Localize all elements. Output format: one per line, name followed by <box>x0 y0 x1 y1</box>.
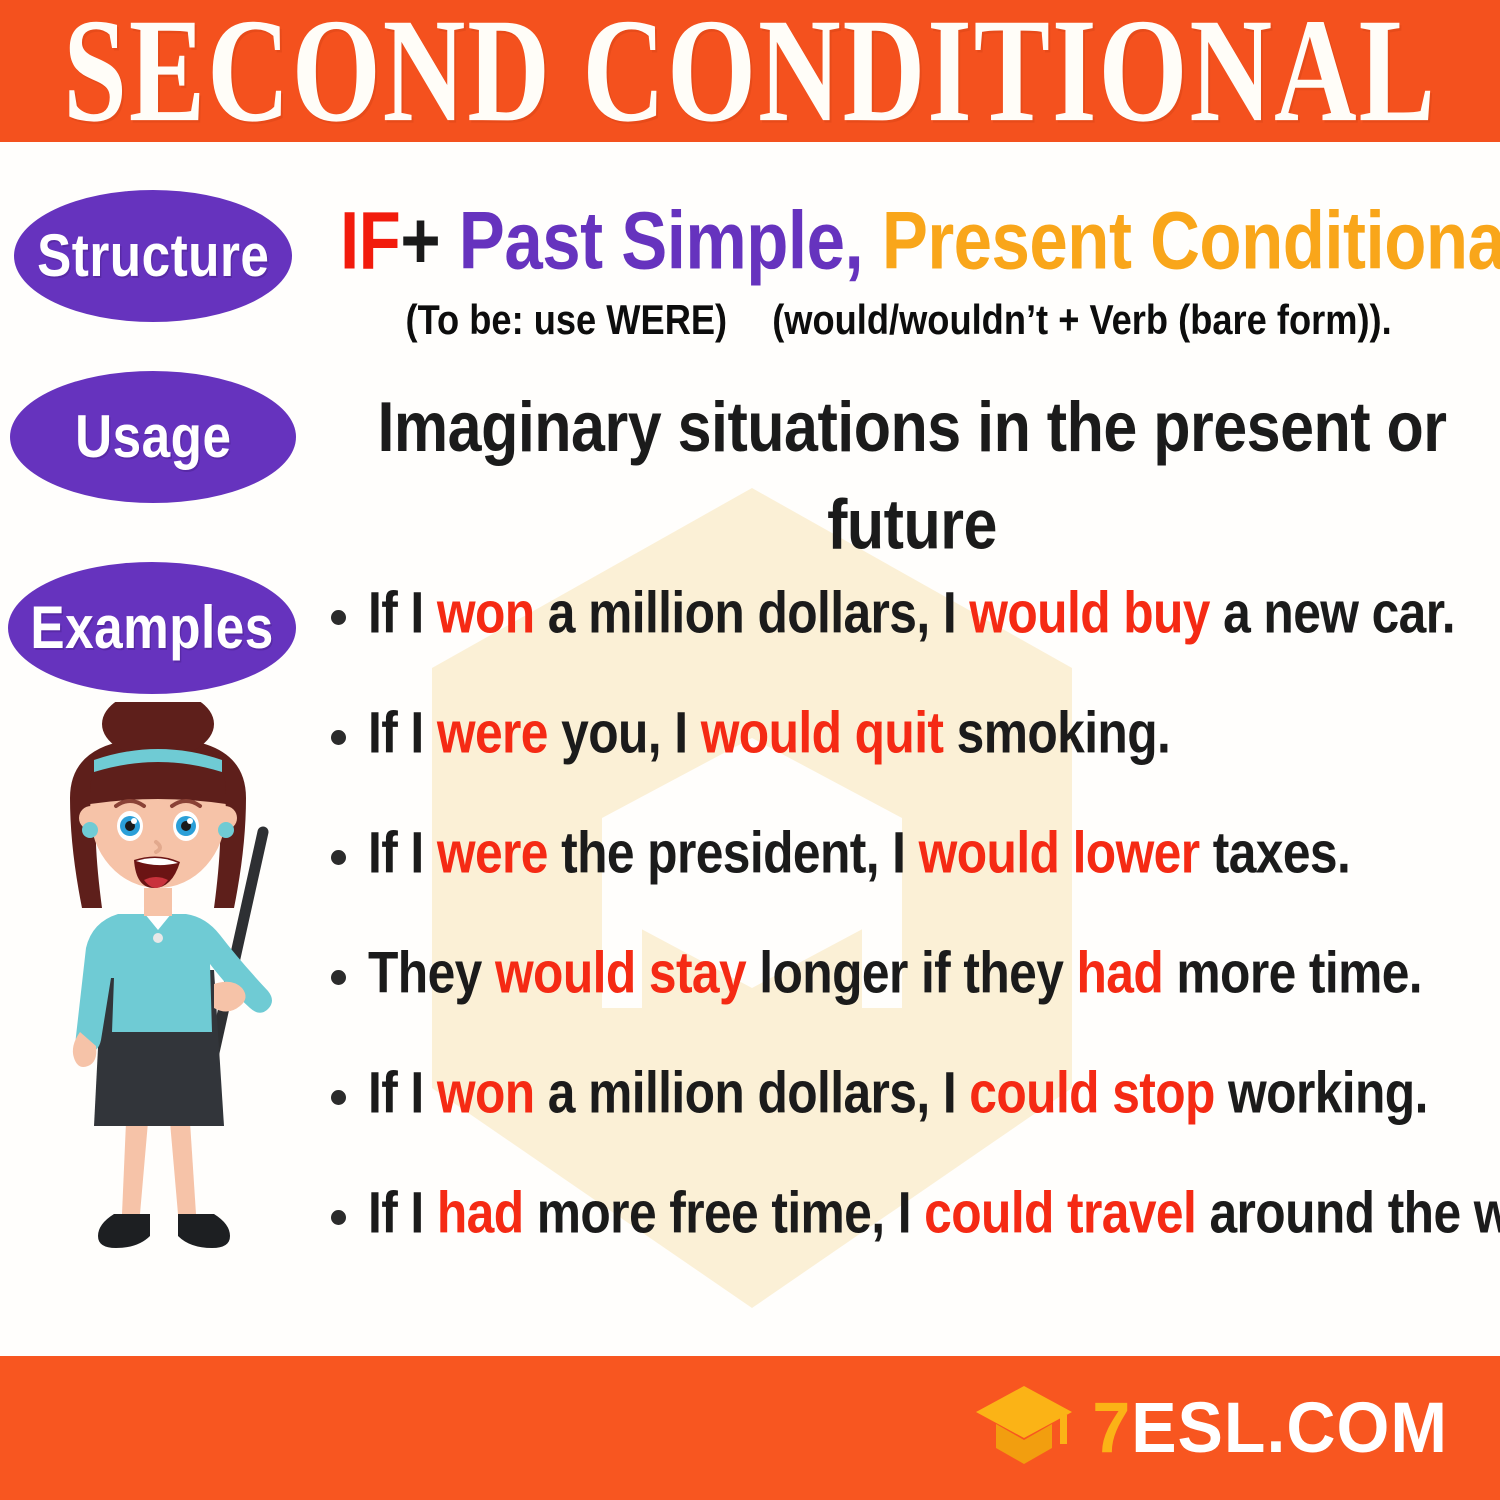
site-logo[interactable]: 7ESL.COM <box>972 1382 1448 1474</box>
structure-formula: IF+ Past Simple, Present Conditional <box>340 200 1480 283</box>
example-item: They would stay longer if they had more … <box>322 942 1497 1062</box>
usage-text: Imaginary situations in the present or f… <box>352 378 1472 573</box>
structure-block: IF+ Past Simple, Present Conditional (To… <box>340 200 1480 339</box>
example-sentence: If I were you, I would quit smoking. <box>368 702 1170 763</box>
example-plain-text: more time. <box>1163 940 1422 1006</box>
example-keyword: would quit <box>701 700 944 766</box>
structure-note-left: (To be: use WERE) <box>406 297 728 343</box>
example-item: If I won a million dollars, I could stop… <box>322 1062 1497 1182</box>
structure-notes: (To be: use WERE)(would/wouldn’t + Verb … <box>340 298 1457 344</box>
bullet-dot-icon <box>331 1090 346 1105</box>
infographic-poster: SECOND CONDITIONAL Structure Usage Examp… <box>0 0 1500 1500</box>
logo-digit-7: 7 <box>1092 1388 1131 1468</box>
formula-if: IF <box>340 195 400 286</box>
example-plain-text: If I <box>368 700 437 766</box>
example-plain-text: a new car. <box>1210 580 1455 646</box>
example-sentence: If I won a million dollars, I could stop… <box>368 1062 1428 1123</box>
teacher-illustration <box>18 702 318 1282</box>
neck <box>144 888 172 916</box>
example-plain-text: longer if they <box>746 940 1076 1006</box>
example-sentence: If I were the president, I would lower t… <box>368 822 1350 883</box>
example-plain-text: smoking. <box>943 700 1170 766</box>
example-item: If I were you, I would quit smoking. <box>322 702 1497 822</box>
pill-label-examples: Examples <box>30 598 273 658</box>
example-plain-text: around the world. <box>1196 1180 1500 1246</box>
earring-left <box>82 822 98 838</box>
logo-text-esl-com: ESL.COM <box>1131 1388 1448 1468</box>
example-plain-text: If I <box>368 1060 437 1126</box>
leg-left <box>122 1122 148 1214</box>
shoe-left <box>98 1214 150 1248</box>
example-keyword: were <box>437 700 548 766</box>
eye-glint-left <box>131 818 137 824</box>
example-keyword: would buy <box>969 580 1210 646</box>
example-item: If I had more free time, I could travel … <box>322 1182 1497 1302</box>
earring-right <box>218 822 234 838</box>
example-item: If I won a million dollars, I would buy … <box>322 582 1497 702</box>
examples-list: If I won a million dollars, I would buy … <box>322 582 1497 1302</box>
example-plain-text: the president, I <box>548 820 919 886</box>
example-plain-text: a million dollars, I <box>535 580 970 646</box>
bullet-dot-icon <box>331 730 346 745</box>
pill-label-structure: Structure <box>37 226 269 286</box>
example-sentence: They would stay longer if they had more … <box>368 942 1422 1003</box>
footer-band: 7ESL.COM <box>0 1356 1500 1500</box>
formula-present-conditional: Present Conditional <box>882 195 1500 286</box>
structure-note-right: (would/wouldn’t + Verb (bare form)). <box>772 297 1391 343</box>
content-area: Structure Usage Examples IF+ Past Simple… <box>0 142 1500 1356</box>
example-plain-text: you, I <box>548 700 701 766</box>
pill-label-usage: Usage <box>75 407 231 467</box>
example-plain-text: taxes. <box>1200 820 1351 886</box>
example-plain-text: They <box>368 940 495 1006</box>
example-plain-text: working. <box>1215 1060 1428 1126</box>
bullet-dot-icon <box>331 970 346 985</box>
example-item: If I were the president, I would lower t… <box>322 822 1497 942</box>
usage-block: Imaginary situations in the present or f… <box>352 378 1472 546</box>
example-keyword: would lower <box>919 820 1200 886</box>
example-keyword: won <box>437 1060 535 1126</box>
example-keyword: could stop <box>969 1060 1215 1126</box>
example-plain-text: a million dollars, I <box>535 1060 970 1126</box>
label-pill-usage: Usage <box>10 371 296 503</box>
bullet-dot-icon <box>331 850 346 865</box>
example-keyword: had <box>437 1180 524 1246</box>
logo-wordmark: 7ESL.COM <box>1092 1392 1448 1463</box>
example-keyword: won <box>437 580 535 646</box>
formula-plus: + <box>400 195 440 286</box>
eye-glint-right <box>187 818 193 824</box>
example-keyword: were <box>437 820 548 886</box>
formula-comma: , <box>844 195 863 286</box>
label-pill-examples: Examples <box>8 562 296 694</box>
example-plain-text: If I <box>368 820 437 886</box>
example-keyword: could travel <box>924 1180 1196 1246</box>
shoe-right <box>178 1214 230 1248</box>
example-plain-text: If I <box>368 1180 437 1246</box>
example-plain-text: more free time, I <box>524 1180 925 1246</box>
example-keyword: would stay <box>495 940 746 1006</box>
page-title: SECOND CONDITIONAL <box>63 0 1437 142</box>
example-keyword: had <box>1077 940 1164 1006</box>
label-pill-structure: Structure <box>14 190 292 322</box>
graduation-cap-icon <box>972 1382 1076 1474</box>
bullet-dot-icon <box>331 610 346 625</box>
example-sentence: If I had more free time, I could travel … <box>368 1182 1500 1243</box>
example-sentence: If I won a million dollars, I would buy … <box>368 582 1455 643</box>
header-band: SECOND CONDITIONAL <box>0 0 1500 142</box>
example-plain-text: If I <box>368 580 437 646</box>
bullet-dot-icon <box>331 1210 346 1225</box>
formula-past-simple: Past Simple <box>459 195 845 286</box>
leg-right <box>170 1122 196 1214</box>
collar-button <box>153 933 163 943</box>
